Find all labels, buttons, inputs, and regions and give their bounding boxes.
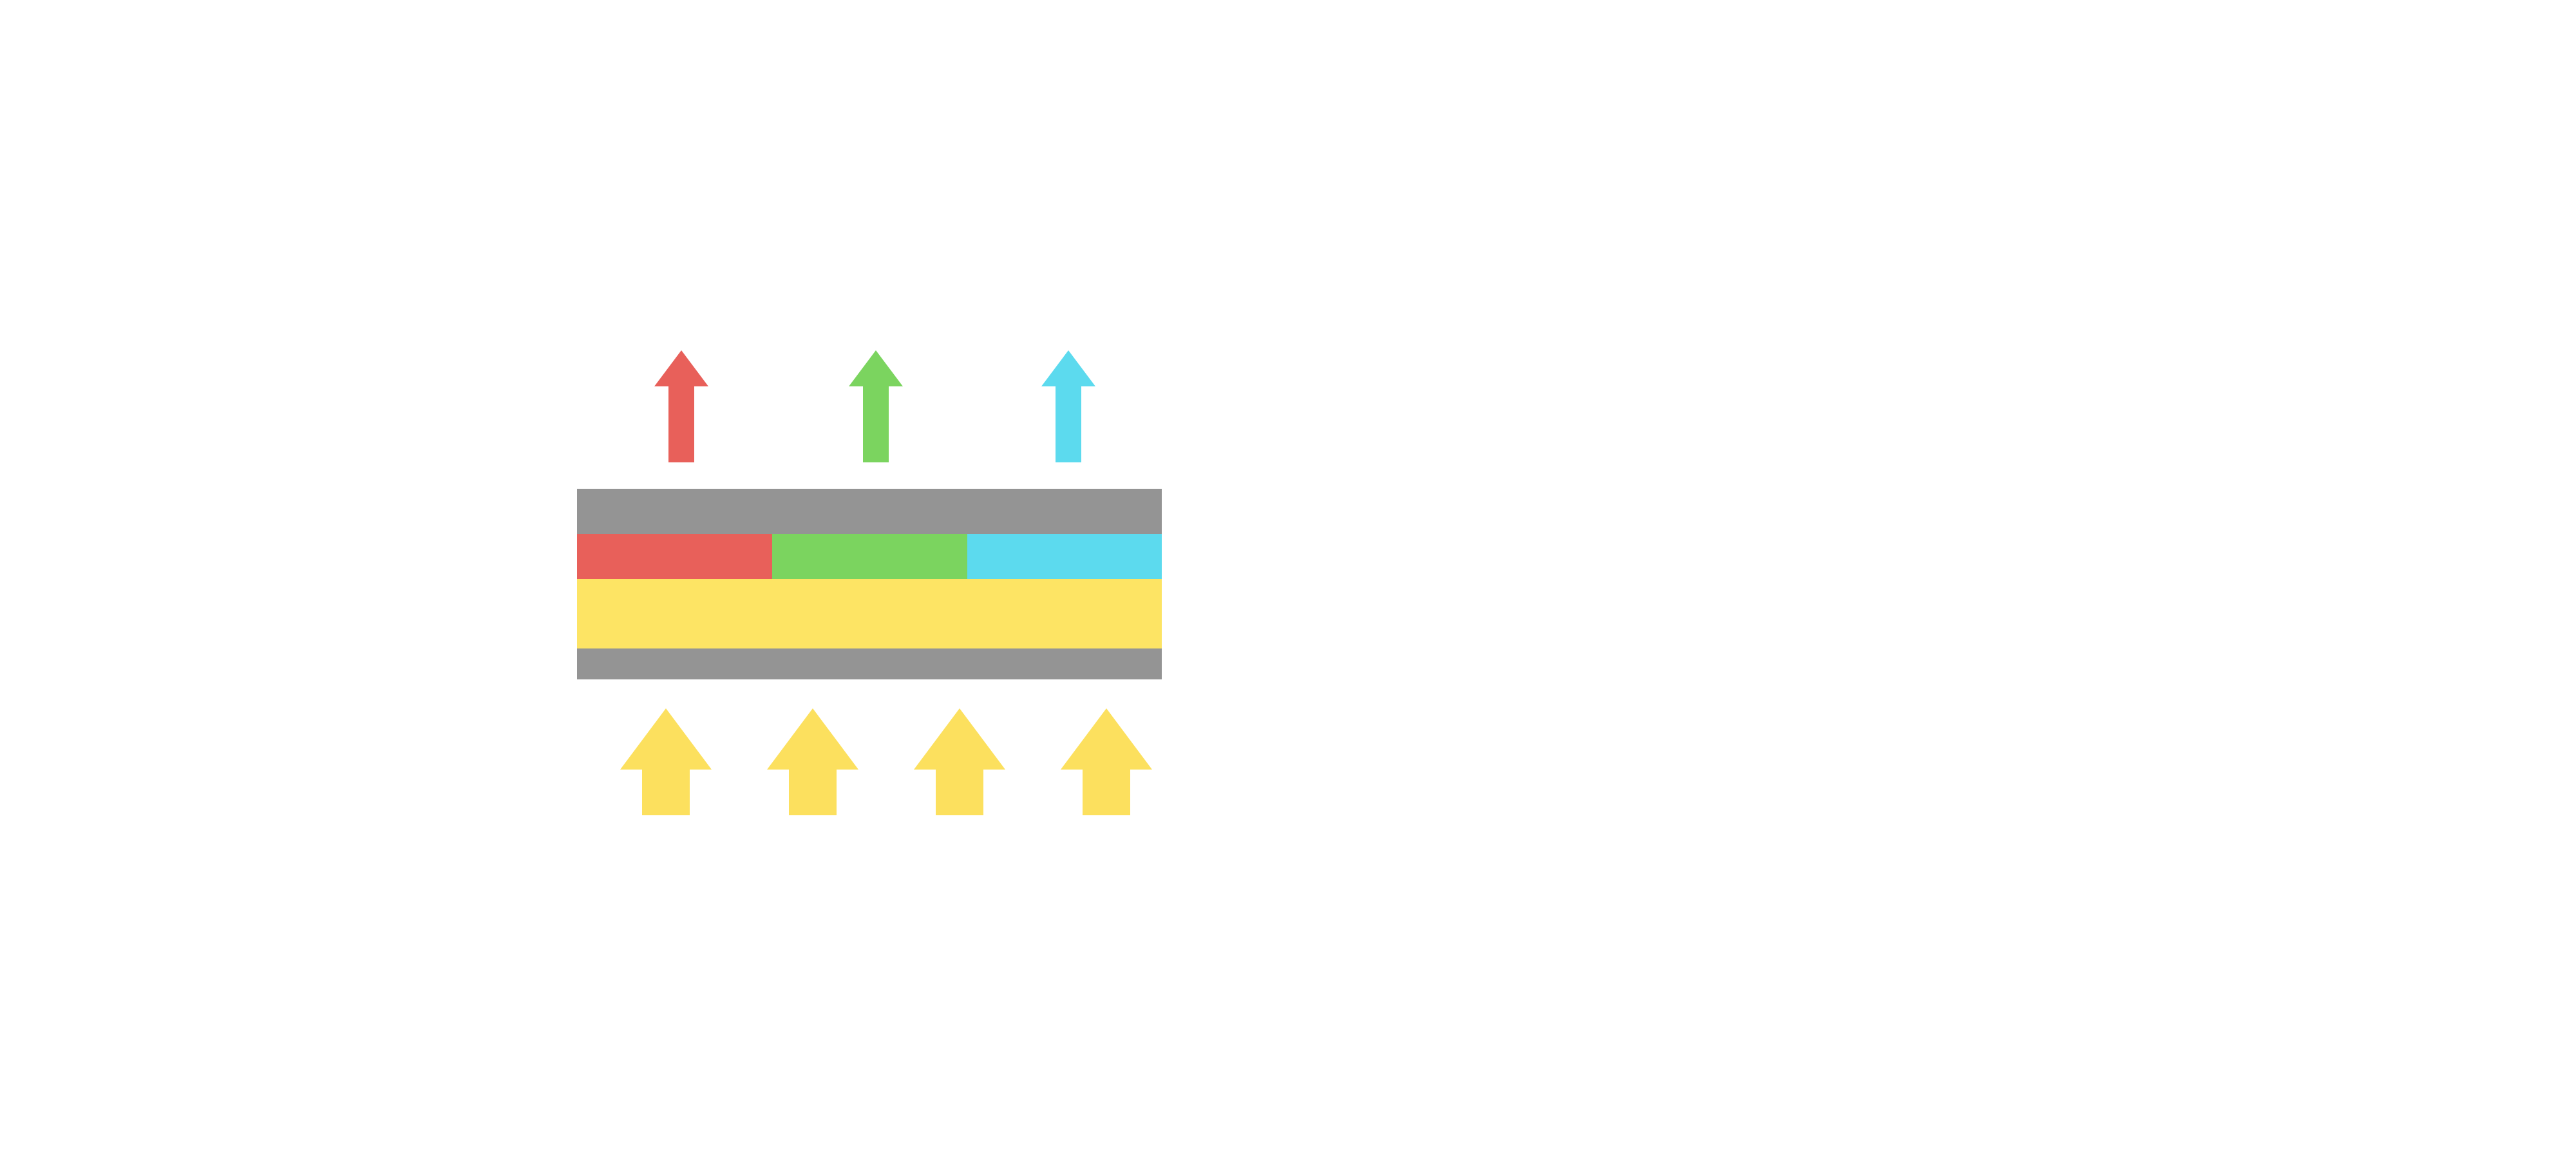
backlight-ray-2 — [767, 708, 858, 815]
lcd-layer-stack — [577, 489, 1162, 679]
emitted-ray-red — [654, 350, 708, 462]
left-panel-lcd — [0, 0, 1288, 1154]
figure-canvas: Blue ChLC Green ChLC Red ChLC — [0, 0, 2576, 1154]
emitted-ray-cyan — [1041, 350, 1095, 462]
green-subpixel — [772, 534, 967, 579]
backlight-ray-3 — [914, 708, 1005, 815]
right-panel-chlc: Blue ChLC Green ChLC Red ChLC — [1288, 0, 2576, 1154]
lcd-bottom-electrode — [577, 648, 1162, 679]
lcd-top-electrode — [577, 489, 1162, 534]
emitted-ray-green — [849, 350, 903, 462]
backlight-ray-4 — [1061, 708, 1152, 815]
backlight-ray-1 — [620, 708, 712, 815]
chlc-ray-group — [1288, 0, 2576, 1154]
red-subpixel — [577, 534, 772, 579]
lcd-backlight-layer — [577, 579, 1162, 648]
blue-subpixel — [967, 534, 1162, 579]
lcd-color-filter-row — [577, 534, 1162, 579]
